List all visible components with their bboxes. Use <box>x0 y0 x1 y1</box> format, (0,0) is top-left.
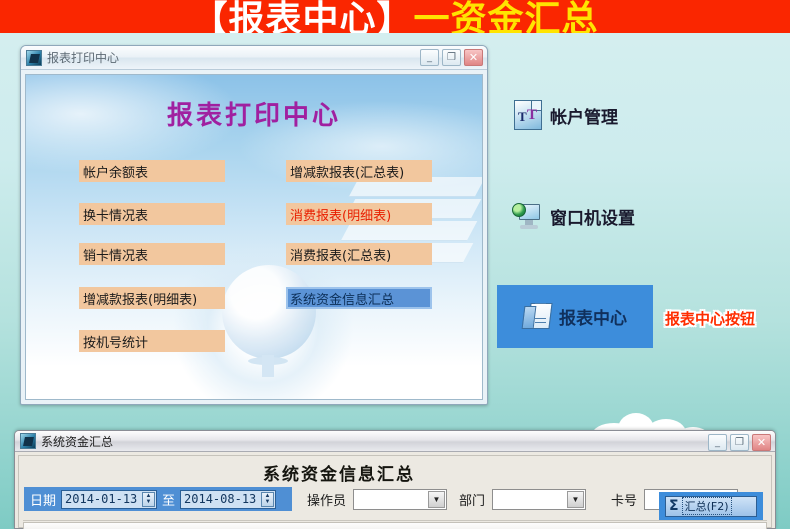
date-to-input[interactable]: 2014-08-13 ▲ ▼ <box>180 490 276 509</box>
page-banner: 【报表中心】一资金汇总 <box>0 0 790 33</box>
minimize-icon: _ <box>421 50 438 65</box>
summary-button-highlight: Σ 汇总(F2) <box>659 492 763 520</box>
date-from-value: 2014-01-13 <box>62 492 137 506</box>
divider <box>23 520 767 521</box>
app-logo-icon <box>20 433 36 449</box>
app-logo-icon <box>26 50 42 66</box>
callout-report-center-button: 报表中心按钮 <box>665 308 755 329</box>
spinner-down-icon: ▼ <box>146 499 152 505</box>
report-window-controls: _ ❐ ✕ <box>420 49 483 66</box>
summary-button-label: 汇总(F2) <box>682 497 732 515</box>
globe-watermark <box>222 265 316 359</box>
report-button-adjustment-detail[interactable]: 增减款报表(明细表) <box>79 287 225 309</box>
department-label: 部门 <box>459 490 485 509</box>
department-field-group: 部门 ▼ <box>459 489 586 510</box>
spinner-down-icon: ▼ <box>265 499 271 505</box>
banner-title-yellow: 一资金汇总 <box>414 0 599 33</box>
department-select[interactable]: ▼ <box>492 489 586 510</box>
sidebar-item-label: 帐户管理 <box>550 103 618 128</box>
report-center-heading: 报表打印中心 <box>26 95 482 132</box>
chevron-down-icon[interactable]: ▼ <box>428 491 445 508</box>
operator-field-group: 操作员 ▼ <box>307 489 447 510</box>
sidebar-item-report-center[interactable]: 报表中心 <box>497 285 653 348</box>
results-grid-header <box>23 522 767 529</box>
maximize-button[interactable]: ❐ <box>442 49 461 66</box>
monitor-globe-icon <box>512 201 542 231</box>
fund-window-titlebar[interactable]: 系统资金汇总 _ ❐ ✕ <box>15 431 775 452</box>
date-to-value: 2014-08-13 <box>181 492 256 506</box>
date-range-filter: 日期 2014-01-13 ▲ ▼ 至 2014-08-13 ▲ ▼ <box>24 487 292 511</box>
report-button-consumption-detail[interactable]: 消费报表(明细表) <box>286 203 432 225</box>
date-to-label: 至 <box>162 490 175 509</box>
report-button-consumption-summary[interactable]: 消费报表(汇总表) <box>286 243 432 265</box>
report-button-card-exchange[interactable]: 换卡情况表 <box>79 203 225 225</box>
fund-summary-heading: 系统资金信息汇总 <box>263 460 415 485</box>
globe-stand-watermark <box>262 355 274 377</box>
sigma-icon: Σ <box>669 499 679 513</box>
maximize-icon: ❐ <box>731 435 748 450</box>
sidebar-item-window-machine-settings[interactable]: 窗口机设置 <box>506 197 641 235</box>
maximize-icon: ❐ <box>443 50 460 65</box>
summary-button[interactable]: Σ 汇总(F2) <box>665 496 757 517</box>
sidebar-item-account-management[interactable]: TT 帐户管理 <box>508 96 624 134</box>
tt-document-icon: TT <box>514 100 542 130</box>
card-number-label: 卡号 <box>611 490 637 509</box>
banner-title: 【报表中心】一资金汇总 <box>0 0 790 33</box>
banner-title-white: 【报表中心】 <box>191 0 413 33</box>
report-print-center-window: 报表打印中心 _ ❐ ✕ 报表打印中心 帐户余额表 换卡情况表 销卡情况表 增减… <box>20 45 488 405</box>
report-button-adjustment-summary[interactable]: 增减款报表(汇总表) <box>286 160 432 182</box>
operator-label: 操作员 <box>307 490 346 509</box>
report-window-title: 报表打印中心 <box>47 49 119 66</box>
sidebar-item-label: 报表中心 <box>559 304 627 329</box>
report-button-system-fund-summary[interactable]: 系统资金信息汇总 <box>286 287 432 309</box>
fund-window-title: 系统资金汇总 <box>41 433 113 450</box>
report-button-account-balance[interactable]: 帐户余额表 <box>79 160 225 182</box>
date-to-spinner[interactable]: ▲ ▼ <box>261 492 274 507</box>
close-button[interactable]: ✕ <box>464 49 483 66</box>
maximize-button[interactable]: ❐ <box>730 434 749 451</box>
close-button[interactable]: ✕ <box>752 434 771 451</box>
notebook-icon <box>523 303 553 331</box>
minimize-icon: _ <box>709 435 726 450</box>
minimize-button[interactable]: _ <box>420 49 439 66</box>
operator-select[interactable]: ▼ <box>353 489 447 510</box>
date-label: 日期 <box>30 490 56 509</box>
report-window-titlebar[interactable]: 报表打印中心 _ ❐ ✕ <box>21 46 487 70</box>
fund-window-controls: _ ❐ ✕ <box>708 434 771 451</box>
chevron-down-icon[interactable]: ▼ <box>567 491 584 508</box>
date-from-input[interactable]: 2014-01-13 ▲ ▼ <box>61 490 157 509</box>
close-icon: ✕ <box>465 50 482 65</box>
date-from-spinner[interactable]: ▲ ▼ <box>142 492 155 507</box>
screenshot-root: 【报表中心】一资金汇总 报表打印中心 _ ❐ ✕ 报表打印中心 帐户余额表 换卡… <box>0 0 790 529</box>
report-button-machine-stats[interactable]: 按机号统计 <box>79 330 225 352</box>
report-window-client-area: 报表打印中心 帐户余额表 换卡情况表 销卡情况表 增减款报表(明细表) 按机号统… <box>25 74 483 400</box>
sidebar-item-label: 窗口机设置 <box>550 204 635 229</box>
paper-stack-watermark <box>346 171 483 291</box>
report-button-card-cancel[interactable]: 销卡情况表 <box>79 243 225 265</box>
close-icon: ✕ <box>753 435 770 450</box>
minimize-button[interactable]: _ <box>708 434 727 451</box>
